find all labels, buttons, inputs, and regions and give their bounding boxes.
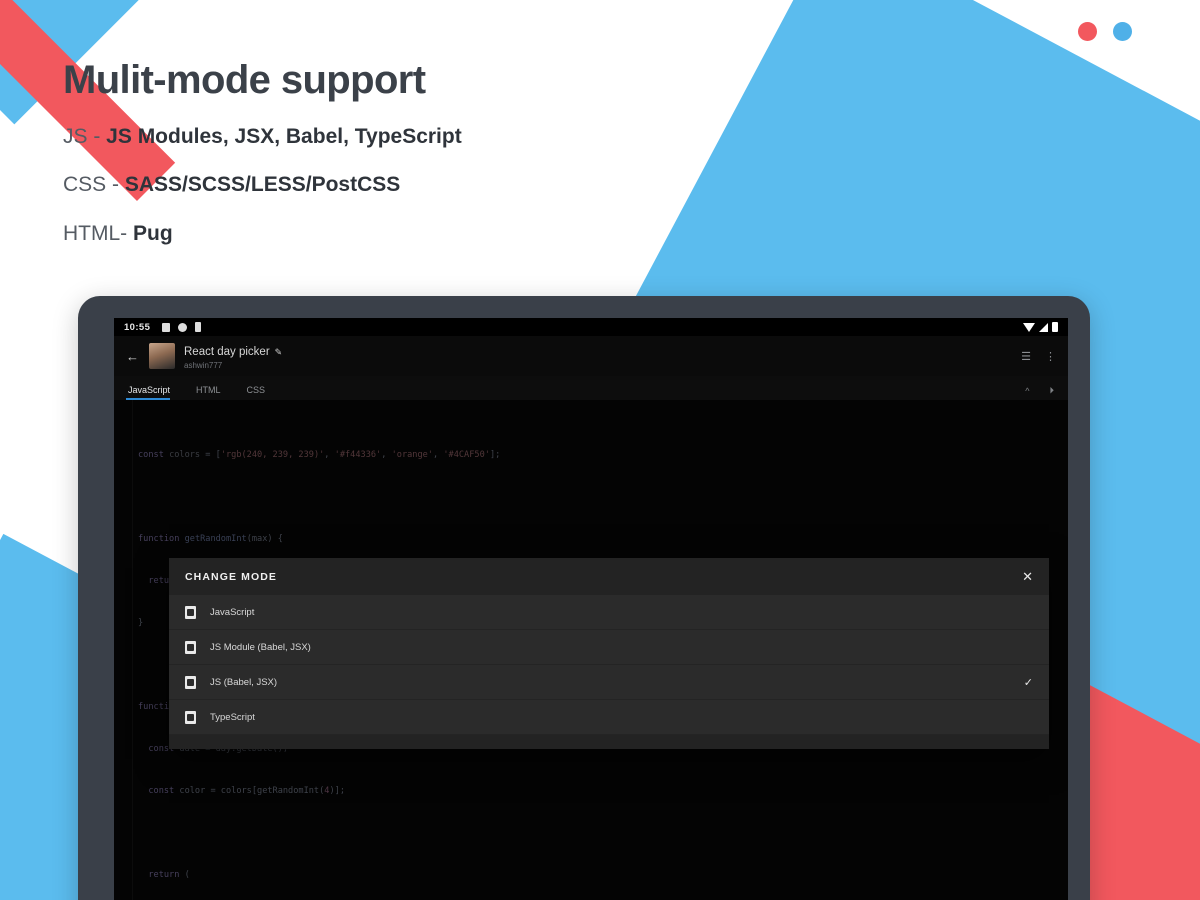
dot-blue-icon — [1113, 22, 1132, 41]
avatar[interactable] — [149, 343, 175, 369]
dialog-title: CHANGE MODE — [185, 571, 277, 583]
mode-option-js-module[interactable]: JS Module (Babel, JSX) — [169, 630, 1049, 665]
sync-icon — [178, 323, 187, 332]
slide-copy: Mulit-mode support JS - JS Modules, JSX,… — [63, 58, 462, 269]
mode-option-label: TypeScript — [210, 712, 255, 723]
page-title: Mulit-mode support — [63, 58, 462, 102]
file-js-icon — [185, 606, 196, 619]
overflow-menu-icon[interactable]: ⋮ — [1045, 350, 1056, 363]
mode-option-label: JavaScript — [210, 607, 254, 618]
project-owner: ashwin777 — [184, 361, 282, 370]
status-time: 10:55 — [124, 322, 150, 333]
bullet-html-prefix: HTML- — [63, 222, 133, 245]
mode-option-typescript[interactable]: TypeScript — [169, 700, 1049, 735]
signal-icon — [1039, 323, 1048, 332]
mode-option-label: JS Module (Babel, JSX) — [210, 642, 311, 653]
tab-html[interactable]: HTML — [196, 385, 233, 400]
mode-options-list: JavaScript JS Module (Babel, JSX) JS (Ba… — [169, 593, 1049, 749]
status-right-icons — [1023, 322, 1058, 332]
bullet-css-prefix: CSS - — [63, 173, 125, 196]
mode-option-js-babel-jsx[interactable]: JS (Babel, JSX) ✓ — [169, 665, 1049, 700]
run-icon[interactable]: ⏵ — [1049, 385, 1054, 396]
device-mockup: 10:55 ← React day picker✎ ashw — [78, 296, 1090, 900]
bullet-html-strong: Pug — [133, 222, 173, 245]
bullet-css-strong: SASS/SCSS/LESS/PostCSS — [125, 173, 400, 196]
bullet-js-prefix: JS - — [63, 125, 106, 148]
battery-icon — [1052, 322, 1058, 332]
file-js-module-icon — [185, 641, 196, 654]
project-title[interactable]: React day picker — [184, 346, 270, 358]
edit-pencil-icon[interactable]: ✎ — [275, 347, 283, 357]
android-status-bar: 10:55 — [114, 318, 1068, 336]
file-jsx-icon — [185, 676, 196, 689]
bullet-css: CSS - SASS/SCSS/LESS/PostCSS — [63, 172, 462, 198]
collapse-icon[interactable]: ^ — [1025, 386, 1029, 396]
status-left-icons — [162, 322, 201, 332]
check-icon: ✓ — [1024, 676, 1033, 689]
mode-option-javascript[interactable]: JavaScript — [169, 595, 1049, 630]
sim-icon — [162, 323, 170, 332]
change-mode-dialog: CHANGE MODE ✕ JavaScript JS Module (Babe… — [169, 558, 1049, 749]
preview-icon[interactable]: ☰ — [1021, 350, 1031, 363]
file-ts-icon — [185, 711, 196, 724]
dialog-header: CHANGE MODE ✕ — [169, 558, 1049, 593]
bullet-js: JS - JS Modules, JSX, Babel, TypeScript — [63, 124, 462, 150]
device-screen: 10:55 ← React day picker✎ ashw — [114, 318, 1068, 900]
back-icon[interactable]: ← — [126, 349, 139, 364]
wifi-icon — [1023, 323, 1035, 332]
pager-dots — [1078, 22, 1132, 41]
app-title-block: React day picker✎ ashwin777 — [184, 342, 282, 371]
close-icon[interactable]: ✕ — [1022, 570, 1033, 583]
tab-css[interactable]: CSS — [247, 385, 278, 400]
tabbar-actions: ^ ⏵ — [1025, 385, 1054, 400]
mode-option-label: JS (Babel, JSX) — [210, 677, 277, 688]
tab-javascript[interactable]: JavaScript — [128, 385, 182, 400]
app-bar-actions: ☰ ⋮ — [1021, 350, 1056, 363]
slide-canvas: Mulit-mode support JS - JS Modules, JSX,… — [0, 0, 1200, 900]
editor-tabbar: JavaScript HTML CSS ^ ⏵ — [114, 376, 1068, 400]
bullet-html: HTML- Pug — [63, 221, 462, 247]
app-bar: ← React day picker✎ ashwin777 ☰ ⋮ — [114, 336, 1068, 376]
dot-red-icon — [1078, 22, 1097, 41]
clipboard-icon — [195, 322, 201, 332]
bullet-js-strong: JS Modules, JSX, Babel, TypeScript — [106, 125, 462, 148]
